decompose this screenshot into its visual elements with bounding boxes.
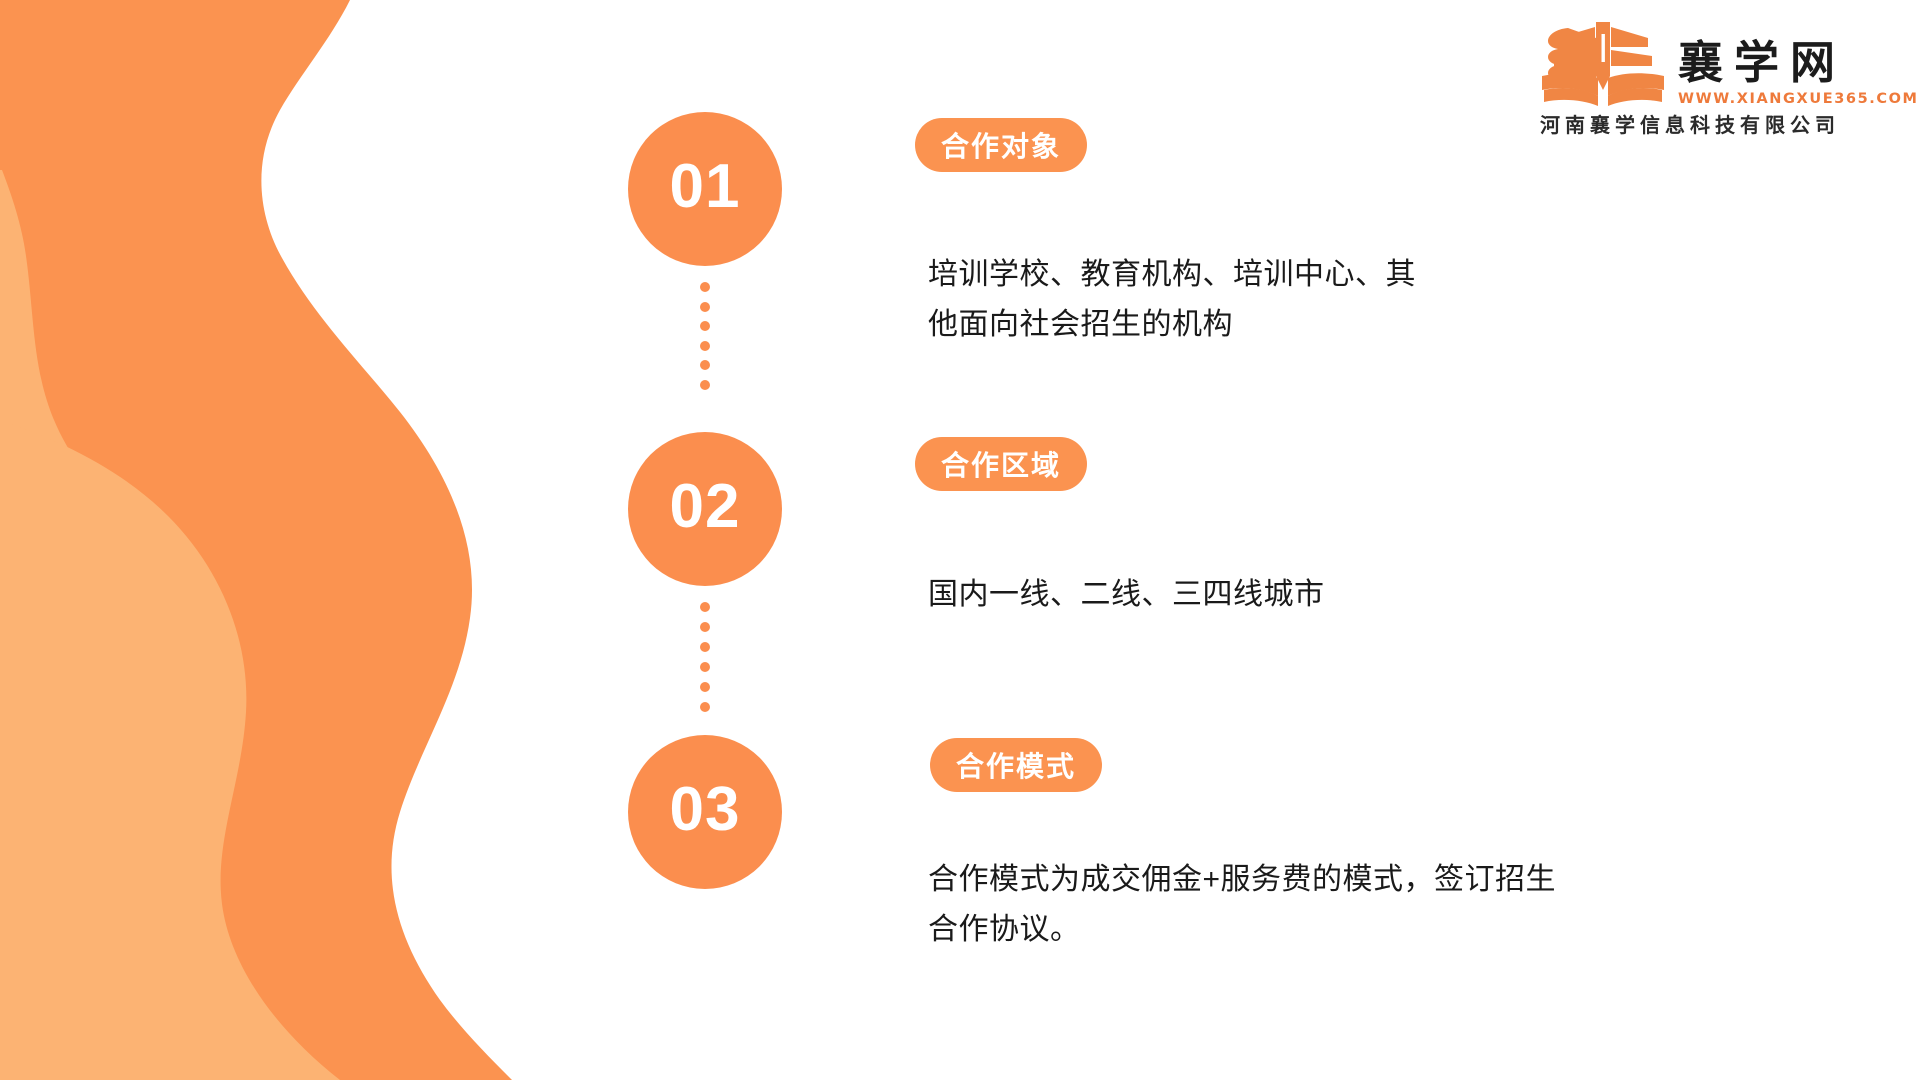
body-text-step-03: 合作模式为成交佣金+服务费的模式，签订招生 合作协议。 bbox=[928, 855, 1556, 955]
logo-top-row: 襄学网 WWW.XIANGXUE365.COM bbox=[1538, 14, 1919, 106]
logo-url: WWW.XIANGXUE365.COM bbox=[1678, 92, 1919, 107]
company-logo: 襄学网 WWW.XIANGXUE365.COM 河南襄学信息科技有限公司 bbox=[1538, 14, 1904, 135]
badge-step-01[interactable]: 合作对象 bbox=[915, 118, 1087, 172]
open-book-with-pencil-icon bbox=[1538, 14, 1668, 106]
logo-wordmark: 襄学网 WWW.XIANGXUE365.COM bbox=[1678, 40, 1919, 107]
body-text-step-02: 国内一线、二线、三四线城市 bbox=[928, 570, 1325, 620]
logo-company-name: 河南襄学信息科技有限公司 bbox=[1540, 115, 1840, 135]
badge-step-02[interactable]: 合作区域 bbox=[915, 437, 1087, 491]
content-column: 合作对象 培训学校、教育机构、培训中心、其 他面向社会招生的机构 合作区域 国内… bbox=[0, 0, 1920, 1080]
body-text-step-01: 培训学校、教育机构、培训中心、其 他面向社会招生的机构 bbox=[928, 250, 1416, 350]
logo-name: 襄学网 bbox=[1678, 40, 1919, 85]
badge-step-03[interactable]: 合作模式 bbox=[930, 738, 1102, 792]
